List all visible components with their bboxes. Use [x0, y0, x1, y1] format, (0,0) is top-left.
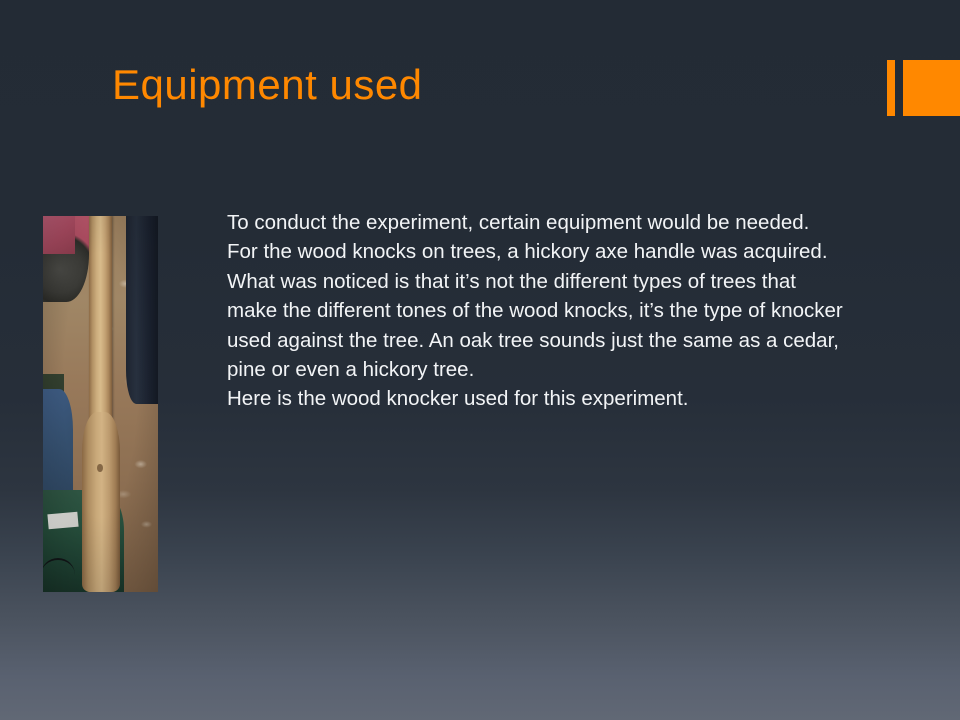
equipment-photo: [43, 216, 158, 592]
body-line: What was noticed is that it’s not the di…: [227, 267, 957, 296]
accent-thin-bar: [887, 60, 895, 116]
body-line: make the different tones of the wood kno…: [227, 296, 957, 325]
body-text-block: To conduct the experiment, certain equip…: [227, 208, 957, 414]
presentation-slide: Equipment used To conduct the experiment…: [0, 0, 960, 720]
body-line: Here is the wood knocker used for this e…: [227, 384, 957, 413]
accent-decoration: [887, 60, 960, 116]
body-line: For the wood knocks on trees, a hickory …: [227, 237, 957, 266]
body-line: To conduct the experiment, certain equip…: [227, 208, 957, 237]
photo-vignette: [43, 216, 158, 592]
page-title: Equipment used: [112, 58, 423, 112]
body-line: used against the tree. An oak tree sound…: [227, 326, 957, 355]
accent-block: [903, 60, 960, 116]
body-line: pine or even a hickory tree.: [227, 355, 957, 384]
